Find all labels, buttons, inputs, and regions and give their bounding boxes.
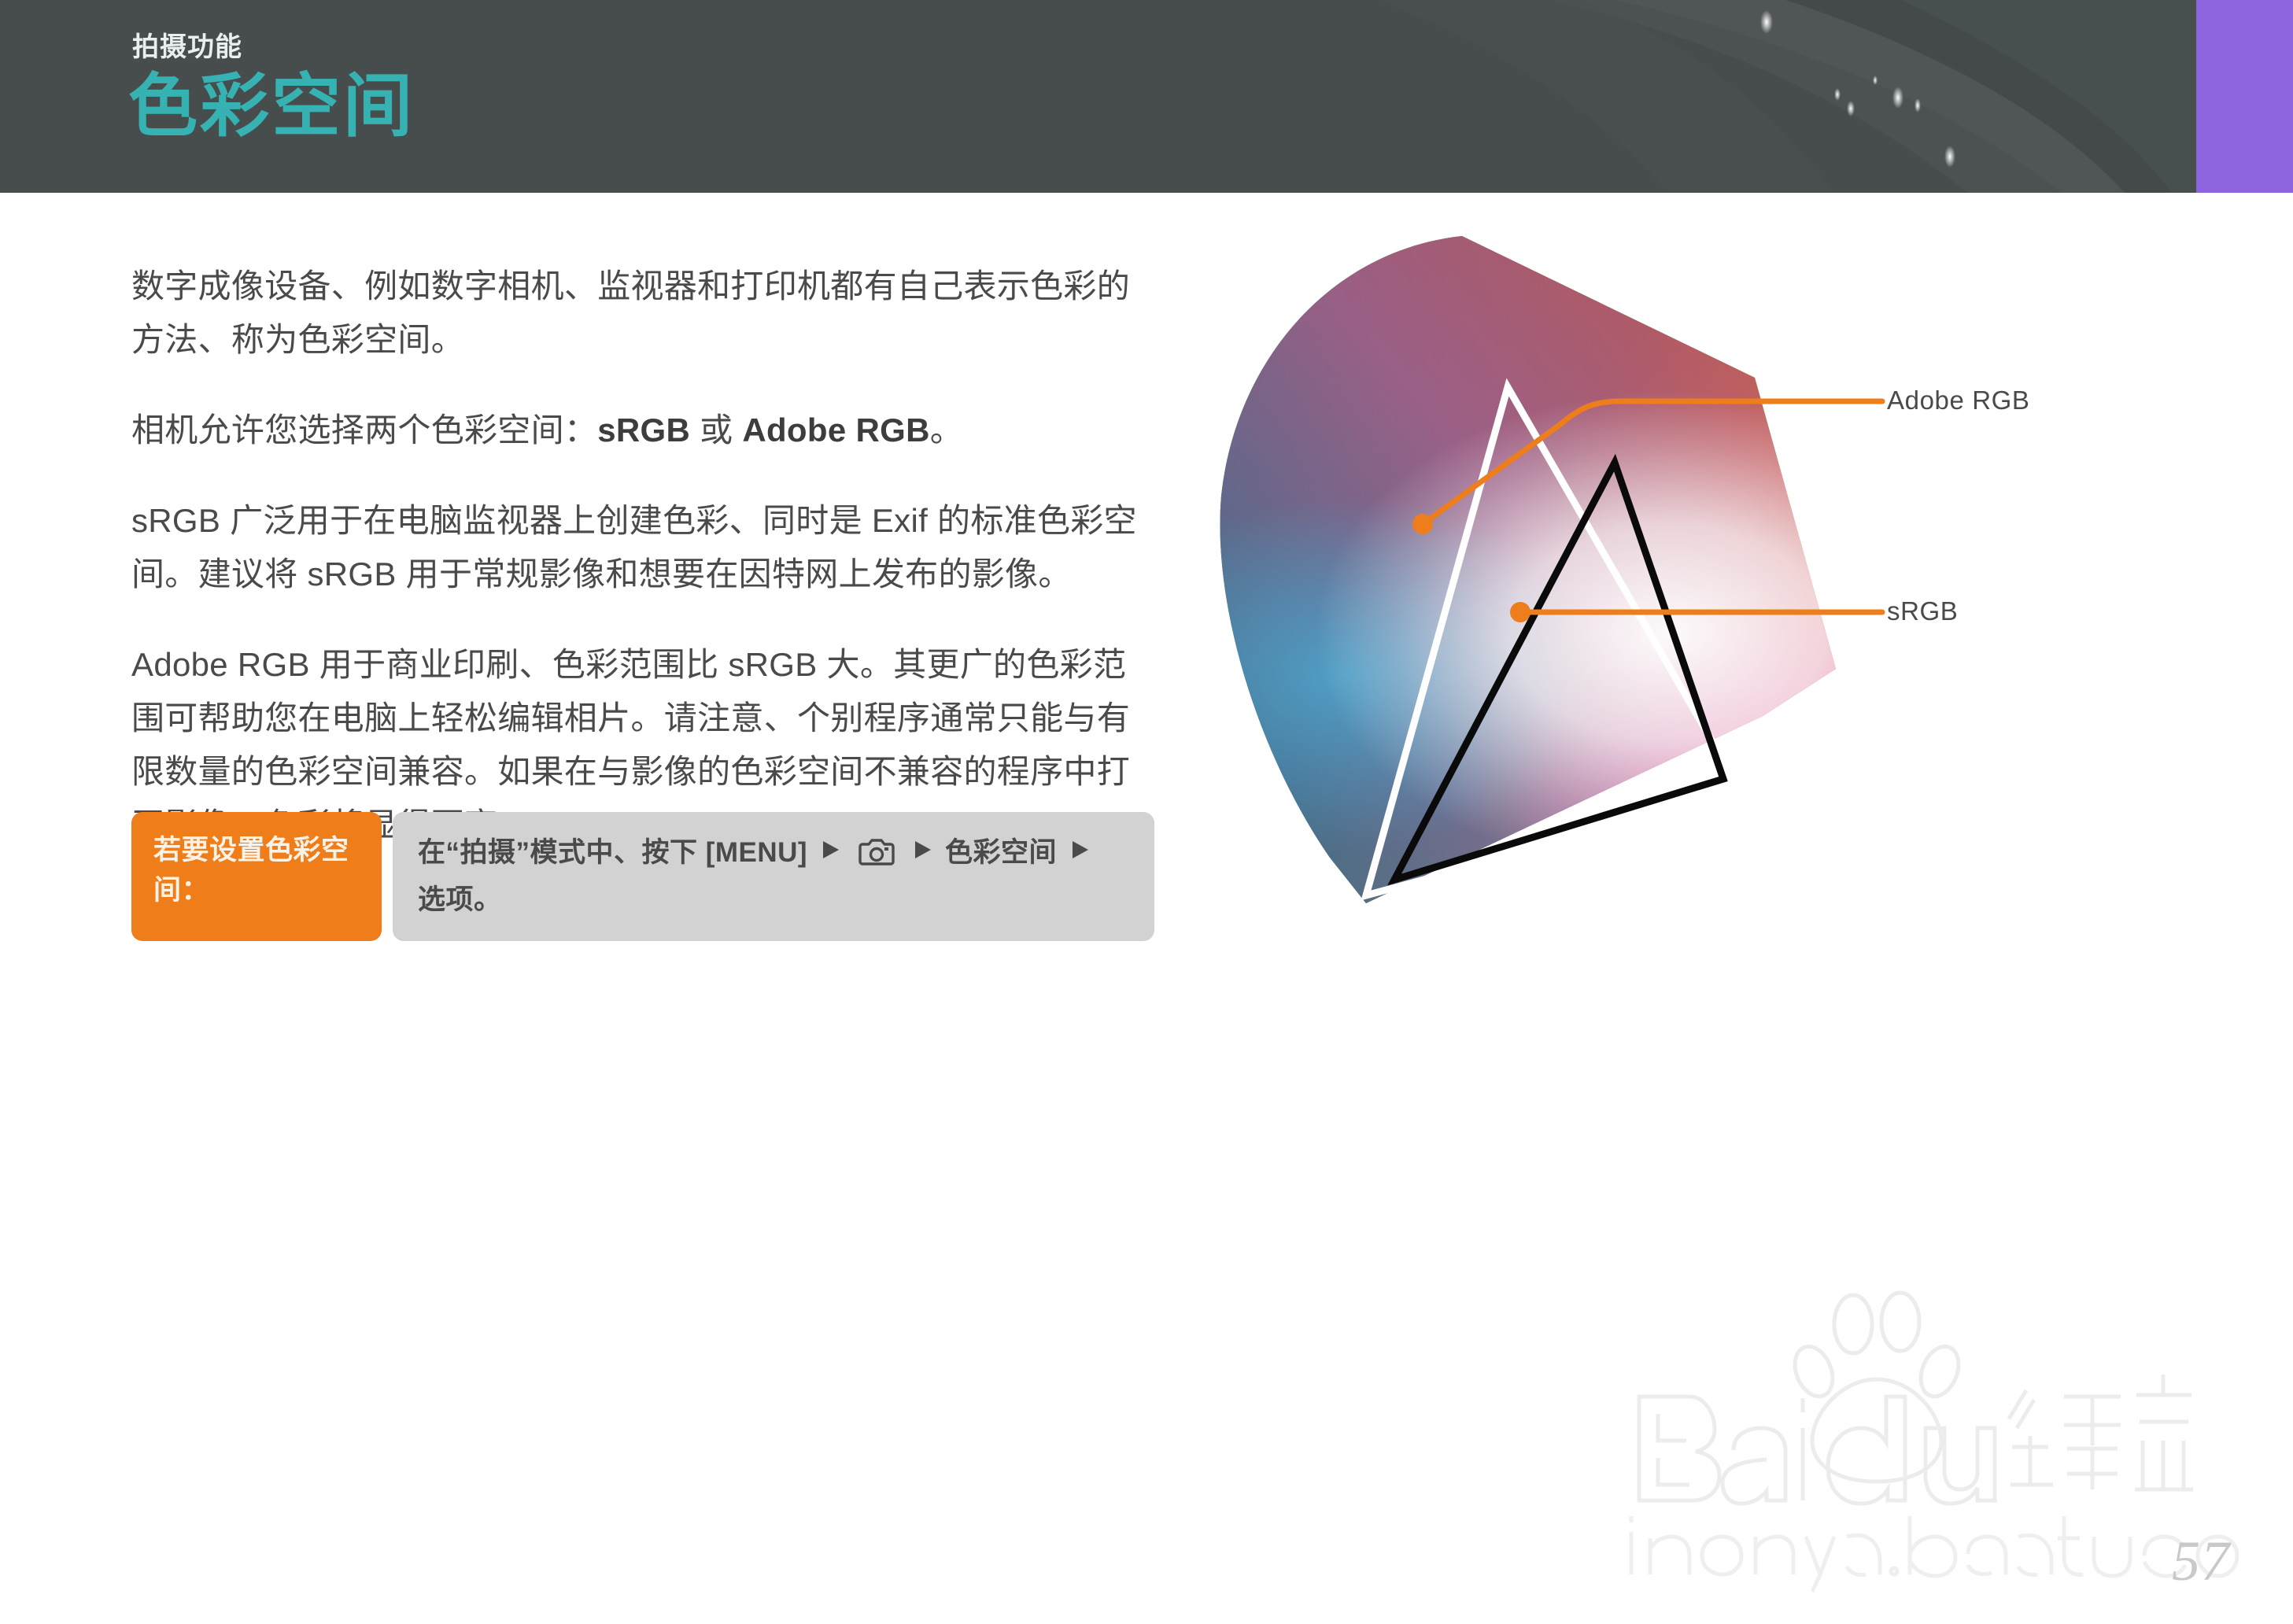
callout-step-text-2: 色彩空间 bbox=[945, 837, 1057, 868]
paw-toe-3 bbox=[1788, 1341, 1840, 1402]
page-kicker: 拍摄功能 bbox=[132, 31, 242, 64]
page-number: 57 bbox=[2172, 1529, 2230, 1594]
legend-label-adobe-rgb: Adobe RGB bbox=[1887, 386, 2030, 415]
play-triangle-icon-3 bbox=[1068, 832, 1091, 874]
paragraph-choice-lead: 相机允许您选择两个色彩空间： bbox=[131, 412, 597, 448]
paw-toe-2 bbox=[1881, 1293, 1919, 1351]
callout-label: 若要设置色彩空间： bbox=[131, 812, 382, 941]
paragraph-intro: 数字成像设备、例如数字相机、监视器和打印机都有自己表示色彩的方法、称为色彩空间。 bbox=[131, 260, 1154, 367]
paw-toe-4 bbox=[1914, 1341, 1966, 1402]
spectral-locus-fill bbox=[1212, 236, 2251, 944]
cie-chromaticity-diagram bbox=[1212, 236, 2251, 944]
baidu-wordmark bbox=[1639, 1397, 1995, 1504]
paragraph-choice-conjunction: 或 bbox=[690, 412, 742, 448]
baidu-watermark-url bbox=[1631, 1516, 2237, 1592]
callout-instructions: 在“拍摄”模式中、按下 [MENU] 色彩空间 选项。 bbox=[393, 812, 1154, 941]
paragraph-srgb: sRGB 广泛用于在电脑监视器上创建色彩、同时是 Exif 的标准色彩空间。建议… bbox=[131, 494, 1154, 601]
paragraph-choice: 相机允许您选择两个色彩空间：sRGB 或 Adobe RGB。 bbox=[131, 404, 1154, 457]
camera-icon bbox=[858, 837, 895, 880]
page-header: 拍摄功能 色彩空间 bbox=[0, 0, 2293, 193]
callout-step-text-1: 在“拍摄”模式中、按下 [MENU] bbox=[418, 837, 807, 868]
paw-toe-1 bbox=[1834, 1295, 1872, 1353]
paw-pad bbox=[1812, 1379, 1941, 1482]
play-triangle-icon bbox=[818, 832, 842, 874]
body-text-column: 数字成像设备、例如数字相机、监视器和打印机都有自己表示色彩的方法、称为色彩空间。… bbox=[131, 260, 1154, 889]
how-to-callout: 若要设置色彩空间： 在“拍摄”模式中、按下 [MENU] 色彩空间 bbox=[131, 812, 1154, 941]
header-purple-accent-bar bbox=[2196, 0, 2293, 193]
callout-step-text-3: 选项。 bbox=[418, 884, 502, 915]
baidu-watermark bbox=[1617, 1279, 2239, 1593]
page-title: 色彩空间 bbox=[128, 63, 415, 149]
legend-label-srgb: sRGB bbox=[1887, 596, 1958, 626]
term-adobergb: Adobe RGB bbox=[742, 412, 929, 448]
play-triangle-icon-2 bbox=[910, 832, 934, 874]
baidu-wordmark-cn bbox=[2009, 1375, 2193, 1489]
term-srgb: sRGB bbox=[597, 412, 690, 448]
paragraph-choice-tail: 。 bbox=[930, 412, 963, 448]
